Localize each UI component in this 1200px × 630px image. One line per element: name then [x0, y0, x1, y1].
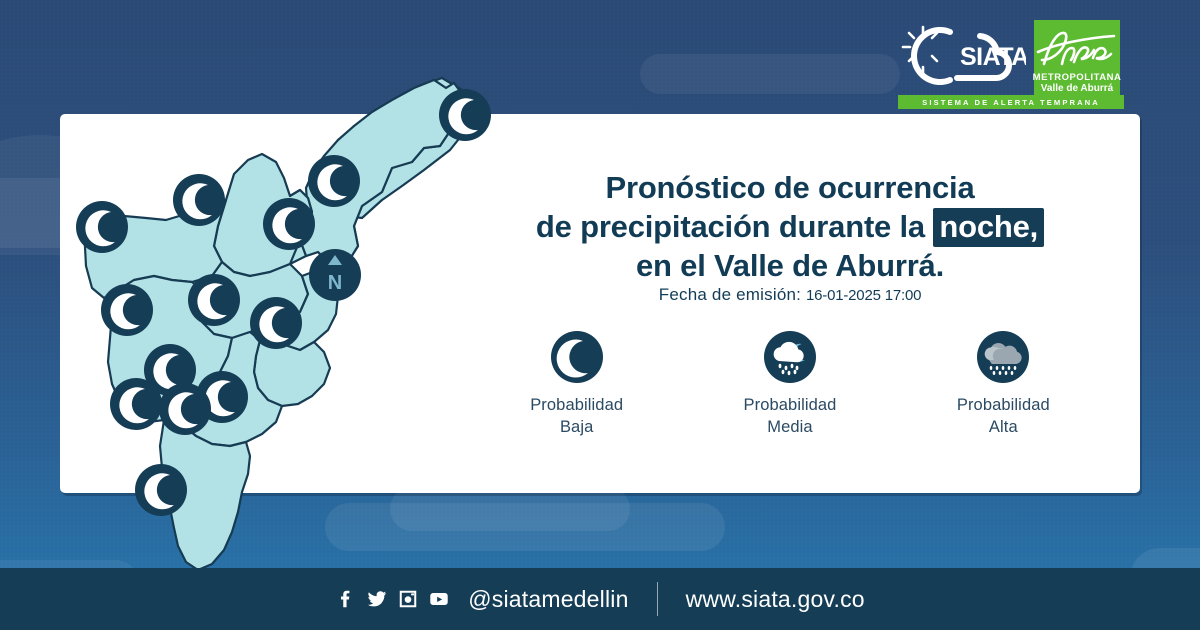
infographic-canvas: SIATA METROPOLITANA Valle de Aburrá SIST…: [0, 0, 1200, 630]
probability-legend: Probabilidad Baja Probabilidad Medi: [470, 330, 1110, 438]
amva-line1: METROPOLITANA: [1033, 72, 1122, 83]
siata-logo: SIATA: [898, 22, 1026, 90]
map-pin-barbosa[interactable]: [439, 89, 491, 141]
legend-item-alta[interactable]: Probabilidad Alta: [918, 330, 1088, 438]
map-pin-caldas[interactable]: [135, 464, 187, 516]
headline-line-2-pre: de precipitación durante la: [536, 209, 925, 244]
headline-highlight: noche,: [933, 208, 1044, 247]
map-pin-la-estrella[interactable]: [159, 383, 211, 435]
facebook-icon[interactable]: [335, 588, 357, 610]
compass-label: N: [328, 272, 342, 294]
compass-rose: N: [309, 249, 361, 301]
legend-label-media-1: Probabilidad: [705, 394, 875, 416]
headline-line-2: de precipitación durante la noche,: [460, 207, 1120, 246]
tagline-banner: SISTEMA DE ALERTA TEMPRANA: [898, 95, 1124, 109]
legend-label-media-2: Media: [705, 416, 875, 438]
emission-date: Fecha de emisión: 16-01-2025 17:00: [460, 285, 1120, 305]
cloud-heavy-rain-icon: [976, 330, 1030, 384]
map-pin-copacabana[interactable]: [263, 198, 315, 250]
map-svg: N: [62, 50, 482, 570]
map-pin-sabaneta[interactable]: [110, 378, 162, 430]
social-icons: [335, 588, 450, 610]
moon-icon: [550, 330, 604, 384]
instagram-icon[interactable]: [397, 588, 419, 610]
amva-line2: Valle de Aburrá: [1041, 83, 1113, 95]
emission-date-label: Fecha de emisión:: [659, 285, 801, 304]
legend-label-baja-2: Baja: [492, 416, 662, 438]
youtube-icon[interactable]: [428, 588, 450, 610]
website-url[interactable]: www.siata.gov.co: [686, 586, 865, 613]
map-pin-san-pedro[interactable]: [76, 201, 128, 253]
footer-divider: [657, 582, 658, 616]
footer-bar: @siatamedellin www.siata.gov.co: [0, 568, 1200, 630]
amva-logo: METROPOLITANA Valle de Aburrá: [1034, 20, 1120, 100]
map-pin-medellin-norte[interactable]: [101, 284, 153, 336]
map-pin-north-central[interactable]: [173, 174, 225, 226]
legend-item-baja[interactable]: Probabilidad Baja: [492, 330, 662, 438]
headline-line-3: en el Valle de Aburrá.: [460, 246, 1120, 285]
map-pin-girardota[interactable]: [308, 155, 360, 207]
background-cloud-upper-right: [640, 54, 900, 94]
valle-de-aburra-map: N: [62, 50, 482, 570]
page-title: Pronóstico de ocurrencia de precipitació…: [460, 168, 1120, 285]
legend-item-media[interactable]: Probabilidad Media: [705, 330, 875, 438]
legend-label-alta-2: Alta: [918, 416, 1088, 438]
legend-label-alta-1: Probabilidad: [918, 394, 1088, 416]
cloud-rain-moon-icon: [763, 330, 817, 384]
headline-line-1: Pronóstico de ocurrencia: [460, 168, 1120, 207]
twitter-icon[interactable]: [366, 588, 388, 610]
emission-date-value: 16-01-2025 17:00: [806, 287, 921, 304]
amva-script-icon: [1034, 26, 1120, 70]
map-pin-bello[interactable]: [188, 274, 240, 326]
map-pin-medellin[interactable]: [250, 297, 302, 349]
svg-text:SIATA: SIATA: [960, 43, 1026, 71]
legend-label-baja-1: Probabilidad: [492, 394, 662, 416]
social-handle[interactable]: @siatamedellin: [468, 586, 628, 613]
